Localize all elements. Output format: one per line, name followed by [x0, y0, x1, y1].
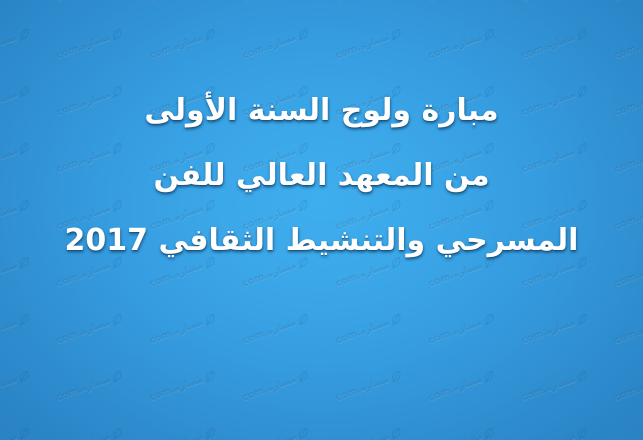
- watermark-text: مساره.com: [140, 0, 213, 26]
- leaf-logo-icon: [110, 427, 123, 439]
- watermark-tile: مساره.com: [583, 405, 643, 440]
- watermark-tile: مساره.com: [304, 348, 411, 433]
- leaf-logo-icon: [575, 28, 588, 40]
- watermark-tile: مساره.com: [0, 291, 39, 376]
- watermark-tile: مساره.com: [583, 0, 643, 34]
- leaf-logo-icon: [389, 427, 402, 439]
- watermark-text: مساره.com: [233, 409, 306, 440]
- watermark-tile: مساره.com: [0, 0, 39, 34]
- watermark-tile: مساره.com: [211, 291, 318, 376]
- headline-block: مبارة ولوج السنة الأولى من المعهد العالي…: [0, 78, 643, 273]
- watermark-text: مساره.com: [0, 0, 27, 26]
- leaf-logo-icon: [482, 370, 495, 382]
- watermark-tile: مساره.com: [490, 348, 597, 433]
- watermark-text: مساره.com: [0, 352, 27, 425]
- leaf-logo-icon: [110, 370, 123, 382]
- leaf-logo-icon: [389, 28, 402, 40]
- watermark-text: مساره.com: [140, 352, 213, 425]
- watermark-text: مساره.com: [47, 295, 120, 368]
- watermark-text: مساره.com: [326, 10, 399, 83]
- watermark-row: مساره.comمساره.comمساره.comمساره.comمسار…: [0, 0, 643, 17]
- watermark-tile: مساره.com: [583, 291, 643, 376]
- watermark-tile: مساره.com: [583, 348, 643, 433]
- leaf-logo-icon: [296, 427, 309, 439]
- leaf-logo-icon: [482, 427, 495, 439]
- watermark-text: مساره.com: [419, 295, 492, 368]
- watermark-text: مساره.com: [140, 295, 213, 368]
- watermark-text: مساره.com: [419, 352, 492, 425]
- watermark-text: مساره.com: [512, 352, 585, 425]
- leaf-logo-icon: [17, 313, 30, 325]
- leaf-logo-icon: [575, 370, 588, 382]
- watermark-tile: مساره.com: [118, 291, 225, 376]
- banner-canvas: مساره.comمساره.comمساره.comمساره.comمسار…: [0, 0, 643, 440]
- watermark-text: مساره.com: [0, 295, 27, 368]
- leaf-logo-icon: [389, 370, 402, 382]
- leaf-logo-icon: [17, 28, 30, 40]
- watermark-tile: مساره.com: [211, 348, 318, 433]
- watermark-tile: مساره.com: [25, 348, 132, 433]
- watermark-tile: مساره.com: [304, 0, 411, 34]
- watermark-text: مساره.com: [605, 352, 643, 425]
- watermark-tile: مساره.com: [0, 348, 39, 433]
- watermark-text: مساره.com: [326, 409, 399, 440]
- leaf-logo-icon: [110, 313, 123, 325]
- watermark-text: مساره.com: [326, 0, 399, 26]
- watermark-tile: مساره.com: [25, 0, 132, 34]
- leaf-logo-icon: [575, 313, 588, 325]
- watermark-tile: مساره.com: [118, 348, 225, 433]
- watermark-tile: مساره.com: [397, 405, 504, 440]
- watermark-text: مساره.com: [233, 295, 306, 368]
- leaf-logo-icon: [296, 313, 309, 325]
- watermark-text: مساره.com: [0, 409, 27, 440]
- watermark-text: مساره.com: [605, 295, 643, 368]
- leaf-logo-icon: [110, 28, 123, 40]
- watermark-tile: مساره.com: [397, 348, 504, 433]
- watermark-text: مساره.com: [233, 0, 306, 26]
- watermark-row: مساره.comمساره.comمساره.comمساره.comمسار…: [0, 416, 643, 440]
- watermark-tile: مساره.com: [490, 0, 597, 34]
- leaf-logo-icon: [17, 370, 30, 382]
- watermark-tile: مساره.com: [397, 291, 504, 376]
- leaf-logo-icon: [203, 370, 216, 382]
- watermark-row: مساره.comمساره.comمساره.comمساره.comمسار…: [0, 302, 643, 359]
- leaf-logo-icon: [296, 28, 309, 40]
- leaf-logo-icon: [203, 427, 216, 439]
- watermark-tile: مساره.com: [25, 405, 132, 440]
- leaf-logo-icon: [575, 427, 588, 439]
- watermark-text: مساره.com: [47, 352, 120, 425]
- leaf-logo-icon: [17, 427, 30, 439]
- watermark-text: مساره.com: [140, 10, 213, 83]
- watermark-text: مساره.com: [233, 352, 306, 425]
- watermark-text: مساره.com: [512, 0, 585, 26]
- watermark-text: مساره.com: [0, 10, 27, 83]
- watermark-tile: مساره.com: [211, 405, 318, 440]
- watermark-text: مساره.com: [605, 409, 643, 440]
- leaf-logo-icon: [482, 28, 495, 40]
- watermark-text: مساره.com: [605, 10, 643, 83]
- watermark-text: مساره.com: [512, 10, 585, 83]
- watermark-row: مساره.comمساره.comمساره.comمساره.comمسار…: [6, 17, 643, 74]
- headline-line-3: المسرحي والتنشيط الثقافي 2017: [0, 208, 643, 273]
- watermark-row: مساره.comمساره.comمساره.comمساره.comمسار…: [6, 359, 643, 416]
- watermark-text: مساره.com: [419, 409, 492, 440]
- watermark-text: مساره.com: [47, 409, 120, 440]
- leaf-logo-icon: [389, 313, 402, 325]
- watermark-tile: مساره.com: [0, 405, 39, 440]
- leaf-logo-icon: [296, 370, 309, 382]
- watermark-tile: مساره.com: [25, 291, 132, 376]
- watermark-tile: مساره.com: [211, 0, 318, 34]
- watermark-tile: مساره.com: [118, 405, 225, 440]
- leaf-logo-icon: [203, 28, 216, 40]
- leaf-logo-icon: [203, 313, 216, 325]
- watermark-text: مساره.com: [419, 0, 492, 26]
- watermark-tile: مساره.com: [304, 291, 411, 376]
- watermark-text: مساره.com: [512, 409, 585, 440]
- watermark-text: مساره.com: [47, 0, 120, 26]
- watermark-tile: مساره.com: [397, 0, 504, 34]
- watermark-tile: مساره.com: [490, 291, 597, 376]
- watermark-tile: مساره.com: [490, 405, 597, 440]
- watermark-text: مساره.com: [605, 0, 643, 26]
- leaf-logo-icon: [482, 313, 495, 325]
- watermark-text: مساره.com: [47, 10, 120, 83]
- watermark-tile: مساره.com: [118, 0, 225, 34]
- watermark-text: مساره.com: [512, 295, 585, 368]
- watermark-text: مساره.com: [233, 10, 306, 83]
- headline-line-1: مبارة ولوج السنة الأولى: [0, 78, 643, 143]
- watermark-text: مساره.com: [140, 409, 213, 440]
- watermark-text: مساره.com: [419, 10, 492, 83]
- watermark-text: مساره.com: [326, 295, 399, 368]
- headline-line-2: من المعهد العالي للفن: [0, 143, 643, 208]
- watermark-tile: مساره.com: [304, 405, 411, 440]
- watermark-text: مساره.com: [326, 352, 399, 425]
